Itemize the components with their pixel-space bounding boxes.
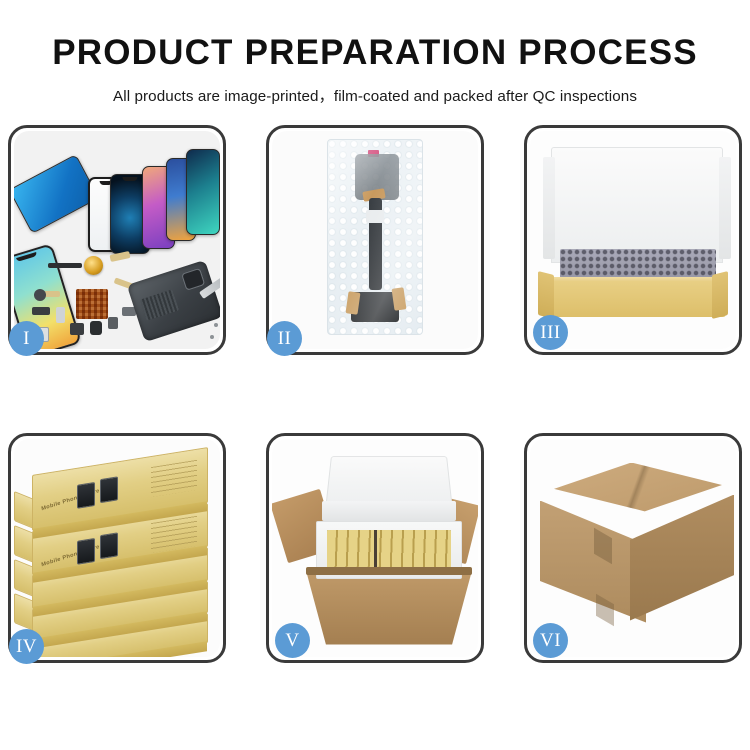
step-photo-5 bbox=[272, 439, 478, 657]
box-right-flap bbox=[712, 271, 728, 319]
wrapped-part bbox=[349, 154, 401, 324]
step-photo-4: Mobile Phone Spare Parts Mobile Phone Sp… bbox=[14, 439, 220, 657]
step-photo-6 bbox=[530, 439, 736, 657]
speaker-part bbox=[34, 289, 46, 301]
box-lid-open bbox=[551, 147, 723, 263]
box-thumbnail bbox=[77, 481, 95, 508]
page-subtitle: All products are image-printed，film-coat… bbox=[0, 84, 750, 106]
phone-panel-blue bbox=[14, 154, 99, 234]
retail-box-stack: Mobile Phone Spare Parts Mobile Phone Sp… bbox=[14, 439, 220, 657]
box-spec-lines bbox=[151, 459, 197, 496]
step-badge-3: III bbox=[533, 315, 568, 350]
notch-icon bbox=[122, 177, 137, 181]
bubble-wrap-bag bbox=[327, 139, 423, 335]
step-photo-1 bbox=[14, 131, 220, 349]
small-part bbox=[108, 317, 118, 329]
step-card-6[interactable]: VI bbox=[524, 433, 742, 663]
step-badge-5: V bbox=[275, 623, 310, 658]
box-thumbnail bbox=[100, 476, 118, 503]
notch-icon bbox=[16, 252, 37, 262]
packed-gold-boxes bbox=[327, 530, 451, 572]
flex-cable-part bbox=[44, 291, 60, 297]
step-card-2[interactable]: II bbox=[266, 125, 484, 355]
camera-module-part bbox=[90, 321, 102, 335]
small-part bbox=[32, 307, 50, 315]
small-part bbox=[56, 307, 65, 323]
carton-body bbox=[306, 571, 472, 645]
foam-lid-edge bbox=[322, 501, 456, 521]
chip-grid-part bbox=[76, 289, 108, 319]
phone-screen-teal bbox=[186, 149, 220, 235]
step-badge-1: I bbox=[9, 321, 44, 356]
step-badge-4: IV bbox=[9, 629, 44, 664]
step-photo-2 bbox=[272, 131, 478, 349]
connector bbox=[366, 210, 384, 223]
step-card-3[interactable]: III bbox=[524, 125, 742, 355]
sealed-carton bbox=[536, 463, 736, 639]
step-card-5[interactable]: V bbox=[266, 433, 484, 663]
screw-part bbox=[210, 335, 214, 339]
box-left-flap bbox=[538, 271, 554, 319]
copper-coil-part bbox=[84, 256, 103, 275]
page-header: PRODUCT PREPARATION PROCESS All products… bbox=[0, 0, 750, 106]
step-badge-6: VI bbox=[533, 623, 568, 658]
step-card-1[interactable]: I bbox=[8, 125, 226, 355]
screw-part bbox=[214, 323, 218, 327]
box-front-panel bbox=[550, 281, 726, 317]
process-steps-grid: I II bbox=[0, 125, 750, 663]
step-badge-2: II bbox=[267, 321, 302, 356]
antenna-strip-part bbox=[48, 263, 82, 268]
page-title: PRODUCT PREPARATION PROCESS bbox=[0, 34, 750, 73]
phone-chassis-part bbox=[127, 259, 220, 341]
tape-strip bbox=[392, 287, 407, 310]
step-photo-3 bbox=[530, 131, 736, 349]
box-thumbnail bbox=[77, 537, 95, 564]
carton-rim bbox=[306, 567, 472, 575]
box-thumbnail bbox=[100, 532, 118, 559]
carton-right-face bbox=[630, 495, 734, 621]
step-card-4[interactable]: Mobile Phone Spare Parts Mobile Phone Sp… bbox=[8, 433, 226, 663]
small-part bbox=[70, 323, 84, 335]
